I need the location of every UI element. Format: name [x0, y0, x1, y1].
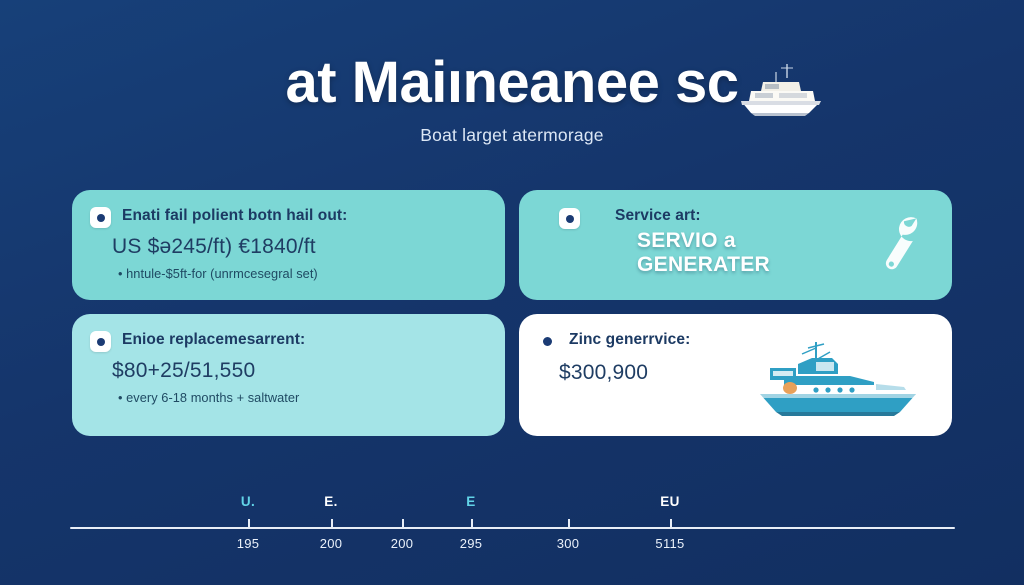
axis-tick-label: 300: [557, 536, 580, 551]
axis-tick-label: 295: [460, 536, 483, 551]
axis-tick-label: 5115: [655, 536, 684, 551]
header: at Maiıneanee sc Boat larget atermorage: [0, 52, 1024, 146]
card-header: Enioe replacemesarrent:: [90, 330, 485, 352]
title-row: at Maiıneanee sc: [286, 52, 739, 115]
headline-line-2: GENERATER: [637, 253, 770, 276]
card-label: Zinc generrvice:: [569, 330, 690, 349]
square-bullet-icon: [559, 208, 580, 229]
cards-grid: Enati fail polient botn hail out: US $ə2…: [72, 190, 952, 436]
infographic-canvas: at Maiıneanee sc Boat larget atermorage: [0, 0, 1024, 585]
axis-tick-label: 200: [320, 536, 343, 551]
card-note: • every 6-18 months + saltwater: [118, 390, 485, 405]
axis-marker-label: EU: [660, 494, 680, 509]
page-subtitle: Boat larget atermorage: [0, 125, 1024, 146]
headline-line-1: SERVIO a: [637, 229, 736, 252]
axis-tick: [568, 519, 570, 528]
yacht-icon: [729, 60, 825, 122]
card-engine-replacement[interactable]: Enioe replacemesarrent: $80+25/51,550 • …: [72, 314, 505, 436]
square-bullet-icon: [90, 207, 111, 228]
card-label: Enati fail polient botn hail out:: [122, 206, 347, 225]
axis-line: [70, 527, 955, 529]
axis-marker-label: E: [466, 494, 475, 509]
card-label: Service art:: [615, 206, 701, 225]
square-bullet-icon: [90, 331, 111, 352]
axis-tick-label: 200: [391, 536, 414, 551]
axis-tick: [402, 519, 404, 528]
axis-marker-label: E.: [324, 494, 338, 509]
axis-tick: [670, 519, 672, 528]
axis-tick-label: 195: [237, 536, 260, 551]
card-service-art[interactable]: Service art: SERVIO a GENERATER: [519, 190, 952, 300]
axis-tick: [248, 519, 250, 528]
boat-icon: [754, 338, 924, 422]
card-value: $80+25/51,550: [112, 359, 485, 383]
card-header: Enati fail polient botn hail out:: [90, 206, 485, 228]
dot-bullet-icon: [537, 331, 558, 352]
card-value: US $ə245/ft) €1840/ft: [112, 235, 485, 259]
cost-scale-axis: 195U.200E.200295E3005115EU: [70, 486, 955, 566]
wrench-icon: [872, 208, 930, 278]
page-title: at Maiıneanee sc: [286, 52, 739, 115]
axis-marker-label: U.: [241, 494, 255, 509]
card-note: • hntule-$5ft-for (unrmcesegral set): [118, 266, 485, 281]
card-zinc-service[interactable]: Zinc generrvice: $300,900: [519, 314, 952, 436]
card-haul-out[interactable]: Enati fail polient botn hail out: US $ə2…: [72, 190, 505, 300]
axis-tick: [331, 519, 333, 528]
card-label: Enioe replacemesarrent:: [122, 330, 305, 349]
axis-tick: [471, 519, 473, 528]
